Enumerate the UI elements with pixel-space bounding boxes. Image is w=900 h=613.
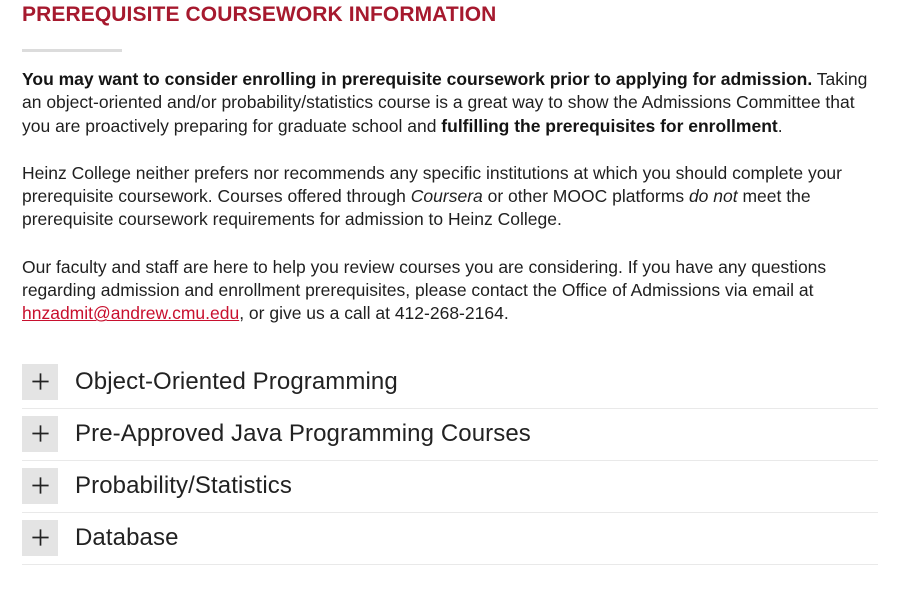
accordion-item-pre-approved-java-programming-courses: Pre-Approved Java Programming Courses — [22, 409, 878, 461]
accordion-header-pre-approved-java-programming-courses[interactable]: Pre-Approved Java Programming Courses — [22, 409, 878, 460]
prerequisite-accordion: Object-Oriented Programming Pre-Approved… — [22, 357, 878, 565]
plus-icon[interactable] — [22, 468, 58, 504]
paragraph-institutions: Heinz College neither prefers nor recomm… — [22, 138, 878, 232]
paragraph-intro: You may want to consider enrolling in pr… — [22, 52, 878, 138]
paragraph-contact: Our faculty and staff are here to help y… — [22, 232, 878, 326]
accordion-divider — [22, 564, 878, 565]
admissions-phone-number: 412-268-2164 — [395, 303, 504, 323]
accordion-label: Probability/Statistics — [75, 471, 292, 501]
accordion-header-object-oriented-programming[interactable]: Object-Oriented Programming — [22, 357, 878, 408]
accordion-item-database: Database — [22, 513, 878, 565]
do-not-italic: do not — [689, 186, 738, 206]
page-title: PREREQUISITE COURSEWORK INFORMATION — [22, 0, 878, 28]
plus-icon[interactable] — [22, 364, 58, 400]
plus-icon[interactable] — [22, 520, 58, 556]
accordion-header-probability-statistics[interactable]: Probability/Statistics — [22, 461, 878, 512]
institutions-text-b: or other MOOC platforms — [483, 186, 689, 206]
accordion-item-object-oriented-programming: Object-Oriented Programming — [22, 357, 878, 409]
accordion-header-database[interactable]: Database — [22, 513, 878, 564]
coursera-italic: Coursera — [411, 186, 483, 206]
accordion-label: Pre-Approved Java Programming Courses — [75, 419, 531, 449]
prerequisite-coursework-page: PREREQUISITE COURSEWORK INFORMATION You … — [0, 0, 900, 613]
intro-lead-bold: You may want to consider enrolling in pr… — [22, 69, 812, 89]
intro-period: . — [778, 116, 783, 136]
contact-text-b: , or give us a call at — [239, 303, 395, 323]
intro-tail-bold: fulfilling the prerequisites for enrollm… — [441, 116, 777, 136]
plus-icon[interactable] — [22, 416, 58, 452]
accordion-item-probability-statistics: Probability/Statistics — [22, 461, 878, 513]
admissions-email-link[interactable]: hnzadmit@andrew.cmu.edu — [22, 303, 239, 323]
contact-text-a: Our faculty and staff are here to help y… — [22, 257, 826, 300]
accordion-label: Object-Oriented Programming — [75, 367, 398, 397]
contact-period: . — [504, 303, 509, 323]
accordion-label: Database — [75, 523, 179, 553]
